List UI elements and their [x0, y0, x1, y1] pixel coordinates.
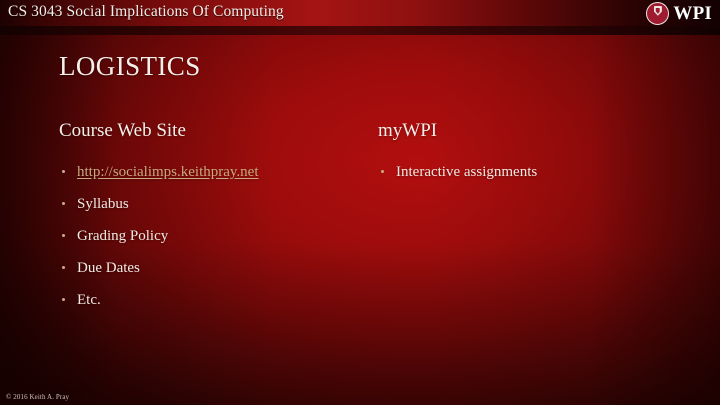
bullet-dot-icon — [62, 234, 65, 237]
list-item[interactable]: http://socialimps.keithpray.net — [59, 163, 359, 181]
column-heading-mywpi: myWPI — [378, 121, 678, 142]
copyright-notice: © 2016 Keith A. Pray — [6, 393, 69, 401]
list-item: Interactive assignments — [378, 163, 678, 181]
list-item-label: Etc. — [77, 292, 101, 308]
wpi-wordmark: WPI — [673, 4, 712, 23]
bullet-dot-icon — [62, 170, 65, 173]
list-item-label: Grading Policy — [77, 228, 168, 244]
list-item-label: Due Dates — [77, 260, 140, 276]
page-title: LOGISTICS — [59, 51, 201, 82]
bullet-dot-icon — [62, 298, 65, 301]
bullet-dot-icon — [62, 202, 65, 205]
bullet-dot-icon — [381, 170, 384, 173]
wpi-logo: WPI — [646, 1, 712, 25]
list-item-label: Syllabus — [77, 196, 129, 212]
bullet-list-mywpi: Interactive assignments — [378, 163, 678, 181]
list-item: Due Dates — [59, 259, 359, 277]
list-item: Etc. — [59, 291, 359, 309]
list-item-label: Interactive assignments — [396, 164, 537, 180]
list-item: Grading Policy — [59, 227, 359, 245]
column-heading-course-web-site: Course Web Site — [59, 121, 359, 142]
header-under-band — [0, 26, 720, 35]
presentation-slide: CS 3043 Social Implications Of Computing… — [0, 0, 720, 405]
course-title: CS 3043 Social Implications Of Computing — [8, 3, 284, 21]
wpi-shield-seal-icon — [646, 2, 669, 25]
bullet-list-course-web-site: http://socialimps.keithpray.net Syllabus… — [59, 163, 359, 309]
content-column-right: myWPI Interactive assignments — [378, 121, 678, 195]
content-column-left: Course Web Site http://socialimps.keithp… — [59, 121, 359, 323]
course-website-link[interactable]: http://socialimps.keithpray.net — [77, 164, 259, 180]
list-item: Syllabus — [59, 195, 359, 213]
bullet-dot-icon — [62, 266, 65, 269]
